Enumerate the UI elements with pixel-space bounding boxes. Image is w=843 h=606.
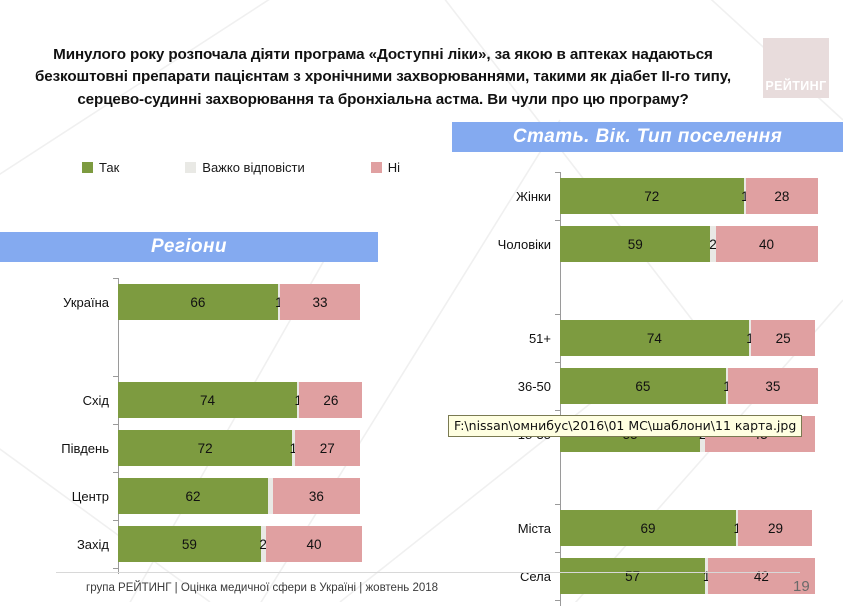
bar-segment-yes: 62: [118, 478, 268, 514]
bar-row: Україна66133: [0, 284, 360, 320]
axis-tick: [555, 504, 560, 505]
bar-segment-no: 40: [716, 226, 818, 262]
bar-category-label: Чоловіки: [452, 237, 560, 252]
slide-root: Минулого року розпочала діяти програма «…: [0, 0, 843, 602]
bar-segment-yes: 72: [560, 178, 744, 214]
rating-logo: РЕЙТИНГ: [763, 38, 829, 98]
bar-segment-value: 66: [190, 295, 205, 310]
axis-tick: [113, 278, 118, 279]
bar-segment-value: 59: [182, 537, 197, 552]
bar-segment-no: 28: [746, 178, 817, 214]
footer-text: група РЕЙТИНГ | Оцінка медичної сфери в …: [86, 582, 438, 594]
bar-track: 74125: [560, 320, 815, 356]
bar-segment-no: 40: [266, 526, 363, 562]
bar-segment-no: 36: [273, 478, 360, 514]
square-swatch-icon: [371, 162, 382, 173]
bar-row: 51+74125: [452, 320, 815, 356]
axis-tick: [113, 376, 118, 377]
bar-category-label: Україна: [0, 295, 118, 310]
footer-divider: [56, 572, 800, 573]
bar-segment-yes: 66: [118, 284, 278, 320]
axis-tick: [555, 362, 560, 363]
file-path-tooltip: F:\nissan\омнибус\2016\01 МС\шаблони\11 …: [448, 415, 802, 437]
bar-row: Південь72127: [0, 430, 360, 466]
bar-segment-yes: 72: [118, 430, 292, 466]
square-swatch-icon: [185, 162, 196, 173]
chart-legend: Так Важко відповісти Ні: [82, 160, 466, 175]
bar-row: Села57142: [452, 558, 815, 594]
bar-row: Центр6236: [0, 478, 360, 514]
bar-segment-yes: 65: [560, 368, 726, 404]
bar-segment-value: 72: [198, 441, 213, 456]
bar-segment-yes: 74: [560, 320, 749, 356]
bar-segment-value: 74: [647, 331, 662, 346]
bar-category-label: Схід: [0, 393, 118, 408]
axis-tick: [113, 520, 118, 521]
section-banner-demographics: Стать. Вік. Тип поселення: [452, 122, 843, 152]
bar-segment-yes: 59: [560, 226, 710, 262]
bar-row: Міста69129: [452, 510, 812, 546]
bar-category-label: Міста: [452, 521, 560, 536]
bar-segment-value: 59: [628, 237, 643, 252]
bar-track: 72128: [560, 178, 818, 214]
bar-segment-no: 29: [738, 510, 812, 546]
bar-track: 6236: [118, 478, 360, 514]
bar-category-label: Жінки: [452, 189, 560, 204]
bar-segment-value: 62: [186, 489, 201, 504]
bar-track: 59240: [560, 226, 818, 262]
bar-category-label: Села: [452, 569, 560, 584]
bar-row: Схід74126: [0, 382, 362, 418]
bar-track: 57142: [560, 558, 815, 594]
page-number: 19: [793, 578, 810, 595]
bar-segment-value: 57: [625, 569, 640, 584]
section-banner-demographics-label: Стать. Вік. Тип поселення: [513, 126, 782, 148]
bar-segment-value: 40: [759, 237, 774, 252]
bar-track: 65135: [560, 368, 818, 404]
bar-row: Чоловіки59240: [452, 226, 818, 262]
bar-segment-value: 74: [200, 393, 215, 408]
chart-regions: Україна66133Схід74126Південь72127Центр62…: [0, 266, 378, 556]
axis-tick: [555, 600, 560, 601]
axis-tick: [113, 472, 118, 473]
bar-row: Жінки72128: [452, 178, 818, 214]
bar-category-label: Центр: [0, 489, 118, 504]
axis-tick: [555, 172, 560, 173]
bar-segment-value: 35: [765, 379, 780, 394]
bar-segment-no: 33: [280, 284, 360, 320]
bar-category-label: Південь: [0, 441, 118, 456]
bar-segment-value: 27: [320, 441, 335, 456]
bar-track: 59240: [118, 526, 362, 562]
bar-segment-value: 40: [306, 537, 321, 552]
square-swatch-icon: [82, 162, 93, 173]
bar-segment-value: 65: [635, 379, 650, 394]
bar-segment-yes: 57: [560, 558, 705, 594]
chart-demographics: Жінки72128Чоловіки5924051+7412536-506513…: [452, 160, 843, 560]
bar-track: 74126: [118, 382, 362, 418]
legend-item-no: Ні: [371, 160, 400, 175]
legend-label-no: Ні: [388, 160, 400, 175]
bar-segment-yes: 69: [560, 510, 736, 546]
axis-tick: [555, 552, 560, 553]
bar-segment-value: 72: [644, 189, 659, 204]
legend-item-hard-to-answer: Важко відповісти: [185, 160, 304, 175]
bar-segment-no: 35: [728, 368, 817, 404]
bar-segment-value: 25: [776, 331, 791, 346]
bar-segment-yes: 74: [118, 382, 297, 418]
section-banner-regions-label: Регіони: [151, 236, 227, 258]
axis-tick: [555, 410, 560, 411]
legend-label-hard-to-answer: Важко відповісти: [202, 160, 304, 175]
bar-category-label: 36-50: [452, 379, 560, 394]
bar-track: 69129: [560, 510, 812, 546]
bar-segment-yes: 59: [118, 526, 261, 562]
axis-tick: [555, 220, 560, 221]
bar-row: 36-5065135: [452, 368, 818, 404]
axis-tick: [113, 568, 118, 569]
bar-segment-no: 26: [299, 382, 362, 418]
bar-track: 66133: [118, 284, 360, 320]
bar-row: Захід59240: [0, 526, 362, 562]
bar-segment-no: 25: [751, 320, 815, 356]
legend-label-yes: Так: [99, 160, 119, 175]
bar-segment-value: 69: [640, 521, 655, 536]
bar-segment-value: 42: [754, 569, 769, 584]
logo-text: РЕЙТИНГ: [765, 79, 826, 98]
bar-segment-value: 33: [313, 295, 328, 310]
bar-segment-value: 36: [309, 489, 324, 504]
bar-category-label: 51+: [452, 331, 560, 346]
bar-segment-no: 27: [295, 430, 360, 466]
section-banner-regions: Регіони: [0, 232, 378, 262]
bar-category-label: Захід: [0, 537, 118, 552]
bar-segment-value: 28: [774, 189, 789, 204]
bar-segment-value: 26: [323, 393, 338, 408]
axis-tick: [555, 314, 560, 315]
page-title: Минулого року розпочала діяти програма «…: [28, 44, 738, 111]
bar-track: 72127: [118, 430, 360, 466]
axis-tick: [113, 424, 118, 425]
legend-item-yes: Так: [82, 160, 119, 175]
bar-segment-value: 29: [768, 521, 783, 536]
